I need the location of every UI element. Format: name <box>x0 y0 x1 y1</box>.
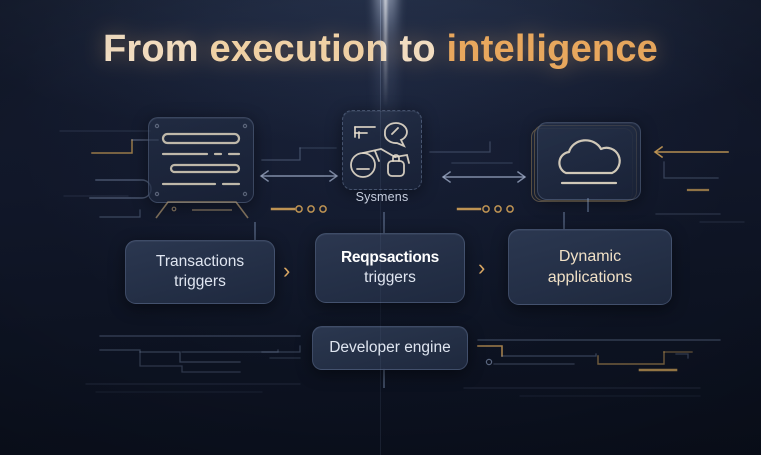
flow-step-label: Developer engine <box>329 338 451 358</box>
flow-step-line-1: Reqpsactions <box>341 248 439 268</box>
systems-gauge-icon <box>342 110 422 190</box>
document-lines-glyph <box>149 118 253 202</box>
systems-icon-caption: Sysmens <box>332 190 432 204</box>
document-icon-base <box>140 196 262 222</box>
mid-pill-stub <box>383 212 385 234</box>
flow-step-line-1: Transactions <box>156 252 244 272</box>
flow-step-line-1: Dynamic <box>559 246 621 267</box>
page-title-part-4: intelligence <box>447 28 658 70</box>
right-pill-stub <box>563 212 565 230</box>
flow-step-dynamic-applications[interactable]: Dynamic applications <box>508 229 672 305</box>
flow-step-requests-triggers[interactable]: Reqpsactions triggers <box>315 233 465 303</box>
cloud-glyph <box>538 123 640 199</box>
flow-step-transactions-triggers[interactable]: Transactions triggers <box>125 240 275 304</box>
flow-step-line-2: applications <box>548 267 633 288</box>
left-pill-stub <box>254 222 256 240</box>
page-title-part-3: to <box>389 28 447 70</box>
document-lines-icon <box>148 117 254 203</box>
page-title-part-1: From <box>103 28 210 70</box>
flow-separator-chevron-1: › <box>283 260 290 282</box>
flow-step-line-2: triggers <box>364 268 416 288</box>
dev-pill-stub <box>383 368 385 388</box>
flow-step-line-2: triggers <box>174 272 226 292</box>
page-title: From execution to intelligence From exec… <box>0 28 761 71</box>
flow-step-developer-engine[interactable]: Developer engine <box>312 326 468 370</box>
page-title-part-2: execution <box>210 28 389 70</box>
cloud-icon-stub <box>587 198 589 212</box>
flow-separator-chevron-2: › <box>478 257 485 279</box>
cloud-stack-icon <box>537 122 641 200</box>
slide-canvas: From execution to intelligence From exec… <box>0 0 761 455</box>
systems-gauge-glyph <box>343 111 421 189</box>
